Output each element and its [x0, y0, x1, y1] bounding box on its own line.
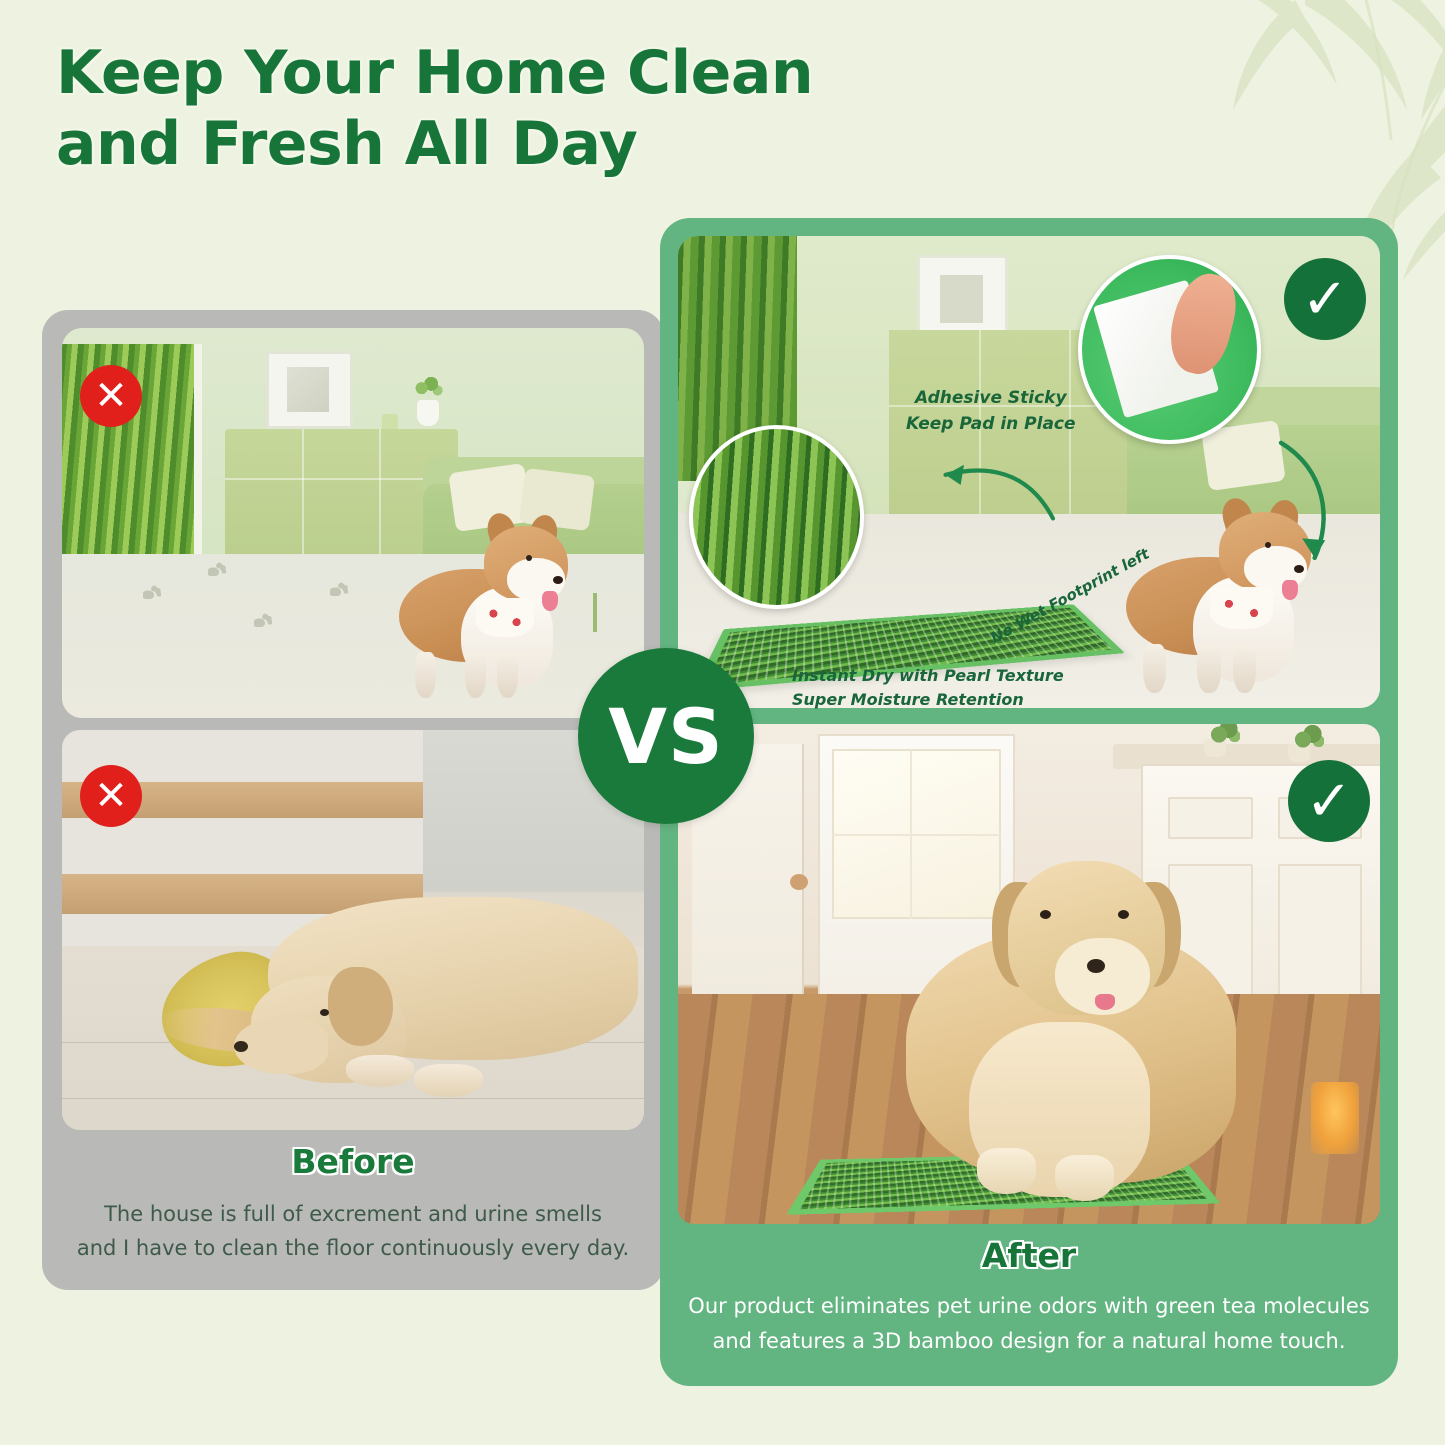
paw-print	[143, 585, 161, 599]
after-body-line-2: and features a 3D bamboo design for a na…	[678, 1324, 1380, 1359]
after-retriever-on-mat-photo	[678, 724, 1380, 1224]
check-badge-icon: ✓	[1288, 760, 1370, 842]
after-title: After	[678, 1236, 1380, 1275]
before-urine-stain-photo	[62, 730, 644, 1130]
before-livingroom-photo	[62, 328, 644, 718]
arrow-to-pad-left	[917, 453, 1071, 529]
arrow-to-pad-right	[1254, 434, 1352, 576]
golden-retriever-on-mat	[875, 854, 1268, 1204]
before-title: Before	[62, 1142, 644, 1181]
annotation-instant-dry: Instant Dry with Pearl Texture Super Moi…	[792, 664, 1064, 712]
before-body-line-1: The house is full of excrement and urine…	[62, 1197, 644, 1231]
table-lamp	[1311, 1082, 1359, 1154]
after-body-line-1: Our product eliminates pet urine odors w…	[678, 1289, 1380, 1324]
annotation-adhesive-line-2: Keep Pad in Place	[906, 412, 1076, 438]
corgi-dog	[388, 515, 580, 694]
infographic-page: Keep Your Home Clean and Fresh All Day	[0, 0, 1445, 1445]
annotation-adhesive-line-1: Adhesive Sticky	[906, 386, 1076, 412]
annotation-instant-line-2: Super Moisture Retention	[792, 688, 1064, 712]
cross-badge-icon: ✕	[80, 765, 142, 827]
after-product-illustration-photo	[678, 236, 1380, 708]
golden-retriever-lying	[225, 874, 644, 1106]
paw-print	[330, 582, 348, 596]
check-badge-icon: ✓	[1284, 258, 1366, 340]
annotation-adhesive-sticky: Adhesive Sticky Keep Pad in Place	[906, 386, 1076, 437]
after-caption: After Our product eliminates pet urine o…	[678, 1236, 1380, 1359]
paw-print	[254, 613, 272, 627]
adhesive-sticky-closeup-circle	[1078, 255, 1261, 444]
before-body-line-2: and I have to clean the floor continuous…	[62, 1231, 644, 1265]
page-title: Keep Your Home Clean and Fresh All Day	[56, 38, 876, 180]
cross-badge-icon: ✕	[80, 365, 142, 427]
bamboo-texture-closeup-circle	[689, 425, 865, 609]
paw-print	[208, 562, 226, 576]
headline-line-1: Keep Your Home Clean	[56, 38, 813, 108]
annotation-instant-line-1: Instant Dry with Pearl Texture	[792, 664, 1064, 688]
before-caption: Before The house is full of excrement an…	[62, 1142, 644, 1265]
headline-line-2: and Fresh All Day	[56, 109, 876, 180]
vs-badge: VS	[578, 648, 754, 824]
